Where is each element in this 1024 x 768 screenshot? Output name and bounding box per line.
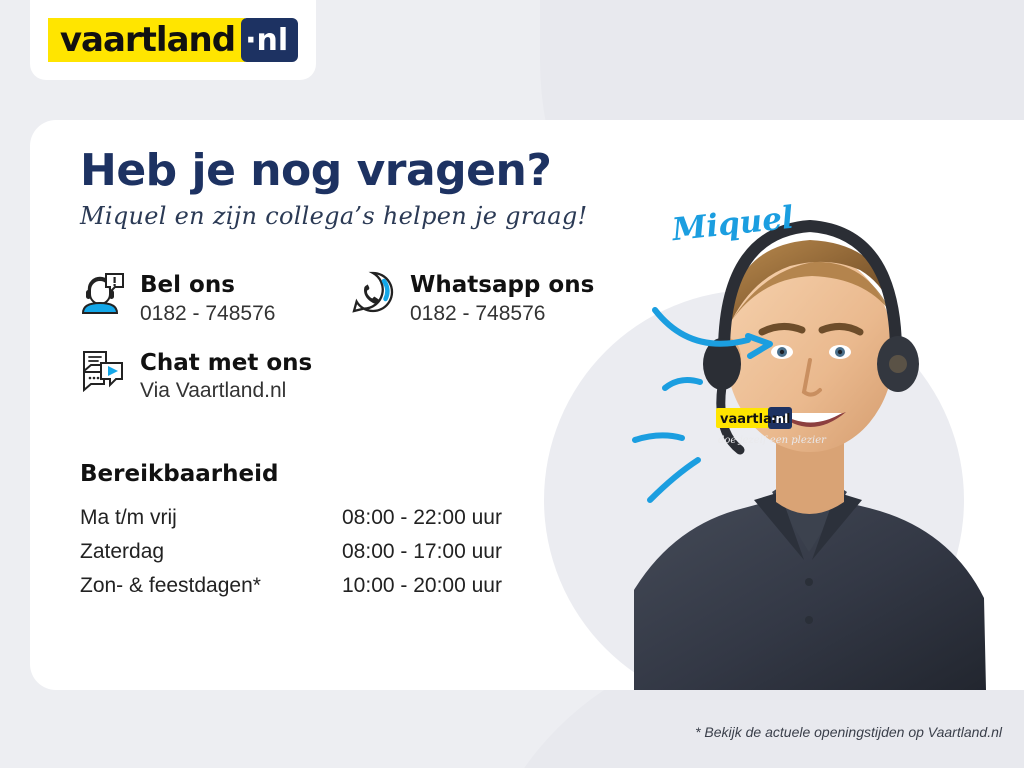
contact-chat-met-ons[interactable]: Chat met ons Via Vaartland.nl [80,348,350,403]
card-content: Heb je nog vragen? Miquel en zijn colleg… [80,148,680,603]
svg-text:doe jezelf een plezier: doe jezelf een plezier [718,435,827,446]
hours-time: 08:00 - 22:00 uur [342,501,502,535]
footnote-text: * Bekijk de actuele openingstijden op Va… [695,724,1002,740]
contact-title: Bel ons [140,272,275,298]
contact-value[interactable]: 0182 - 748576 [410,302,594,326]
contact-bel-ons[interactable]: Bel ons 0182 - 748576 [80,270,350,325]
hours-time: 08:00 - 17:00 uur [342,535,502,569]
page-title: Heb je nog vragen? [80,148,680,194]
table-row: Ma t/m vrij 08:00 - 22:00 uur [80,501,680,535]
vaartland-logo[interactable]: vaartland ·nl [48,18,298,62]
opening-hours: Bereikbaarheid Ma t/m vrij 08:00 - 22:00… [80,461,680,603]
hours-day: Zaterdag [80,535,342,569]
table-row: Zaterdag 08:00 - 17:00 uur [80,535,680,569]
logo-tld-badge: ·nl [241,18,298,62]
opening-hours-title: Bereikbaarheid [80,461,680,487]
logo-card[interactable]: vaartland ·nl [30,0,316,80]
contact-value[interactable]: Via Vaartland.nl [140,379,312,403]
headset-agent-icon [80,270,126,319]
hours-day: Zon- & feestdagen* [80,569,342,603]
page-subtitle: Miquel en zijn collega’s helpen je graag… [80,202,680,230]
contact-title: Chat met ons [140,350,312,376]
contact-methods: Bel ons 0182 - 748576 Whatsapp on [80,270,680,403]
chat-bubbles-icon [80,348,126,397]
logo-wordmark: vaartland [48,18,245,62]
contact-whatsapp-ons[interactable]: Whatsapp ons 0182 - 748576 [350,270,620,325]
svg-text:·nl: ·nl [771,412,788,426]
table-row: Zon- & feestdagen* 10:00 - 20:00 uur [80,569,680,603]
contact-title: Whatsapp ons [410,272,594,298]
hours-day: Ma t/m vrij [80,501,342,535]
hours-time: 10:00 - 20:00 uur [342,569,502,603]
whatsapp-icon [350,270,396,319]
page-root: vaartland ·nl [0,0,1024,768]
main-content-card: vaartland ·nl doe jezelf een plezier Heb… [30,120,1024,690]
contact-value[interactable]: 0182 - 748576 [140,302,275,326]
